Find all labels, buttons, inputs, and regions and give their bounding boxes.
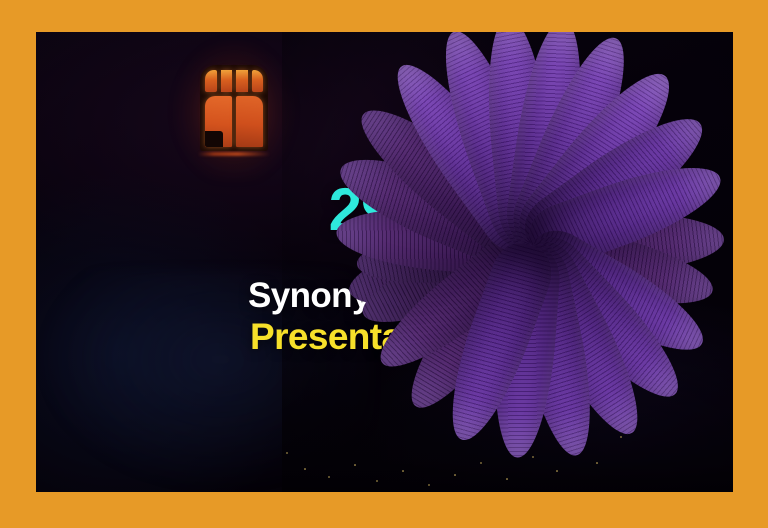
window-pane <box>205 70 217 92</box>
dust-speck <box>354 464 356 466</box>
window-pane <box>252 70 264 92</box>
window-pane <box>236 70 248 92</box>
dust-speck <box>620 436 622 438</box>
dust-speck <box>402 470 404 472</box>
window-sill <box>198 152 270 156</box>
window-pane <box>236 96 263 147</box>
purple-daisy-flower <box>282 32 733 492</box>
dust-speck <box>532 456 534 458</box>
dust-speck <box>376 480 378 482</box>
slide-photo: 29 Synonyms for Presentation <box>36 32 733 492</box>
dust-speck <box>480 462 482 464</box>
slide-frame: 29 Synonyms for Presentation <box>0 0 768 528</box>
window-pane <box>221 70 233 92</box>
dust-speck <box>428 484 430 486</box>
window-frame <box>200 65 268 151</box>
dust-speck <box>596 462 598 464</box>
window-notch <box>205 131 223 147</box>
dust-speck <box>454 474 456 476</box>
dust-speck <box>304 468 306 470</box>
dust-speck <box>556 470 558 472</box>
dust-speck <box>328 476 330 478</box>
lit-window <box>200 65 268 151</box>
dust-speck <box>286 452 288 454</box>
dust-speck <box>506 478 508 480</box>
